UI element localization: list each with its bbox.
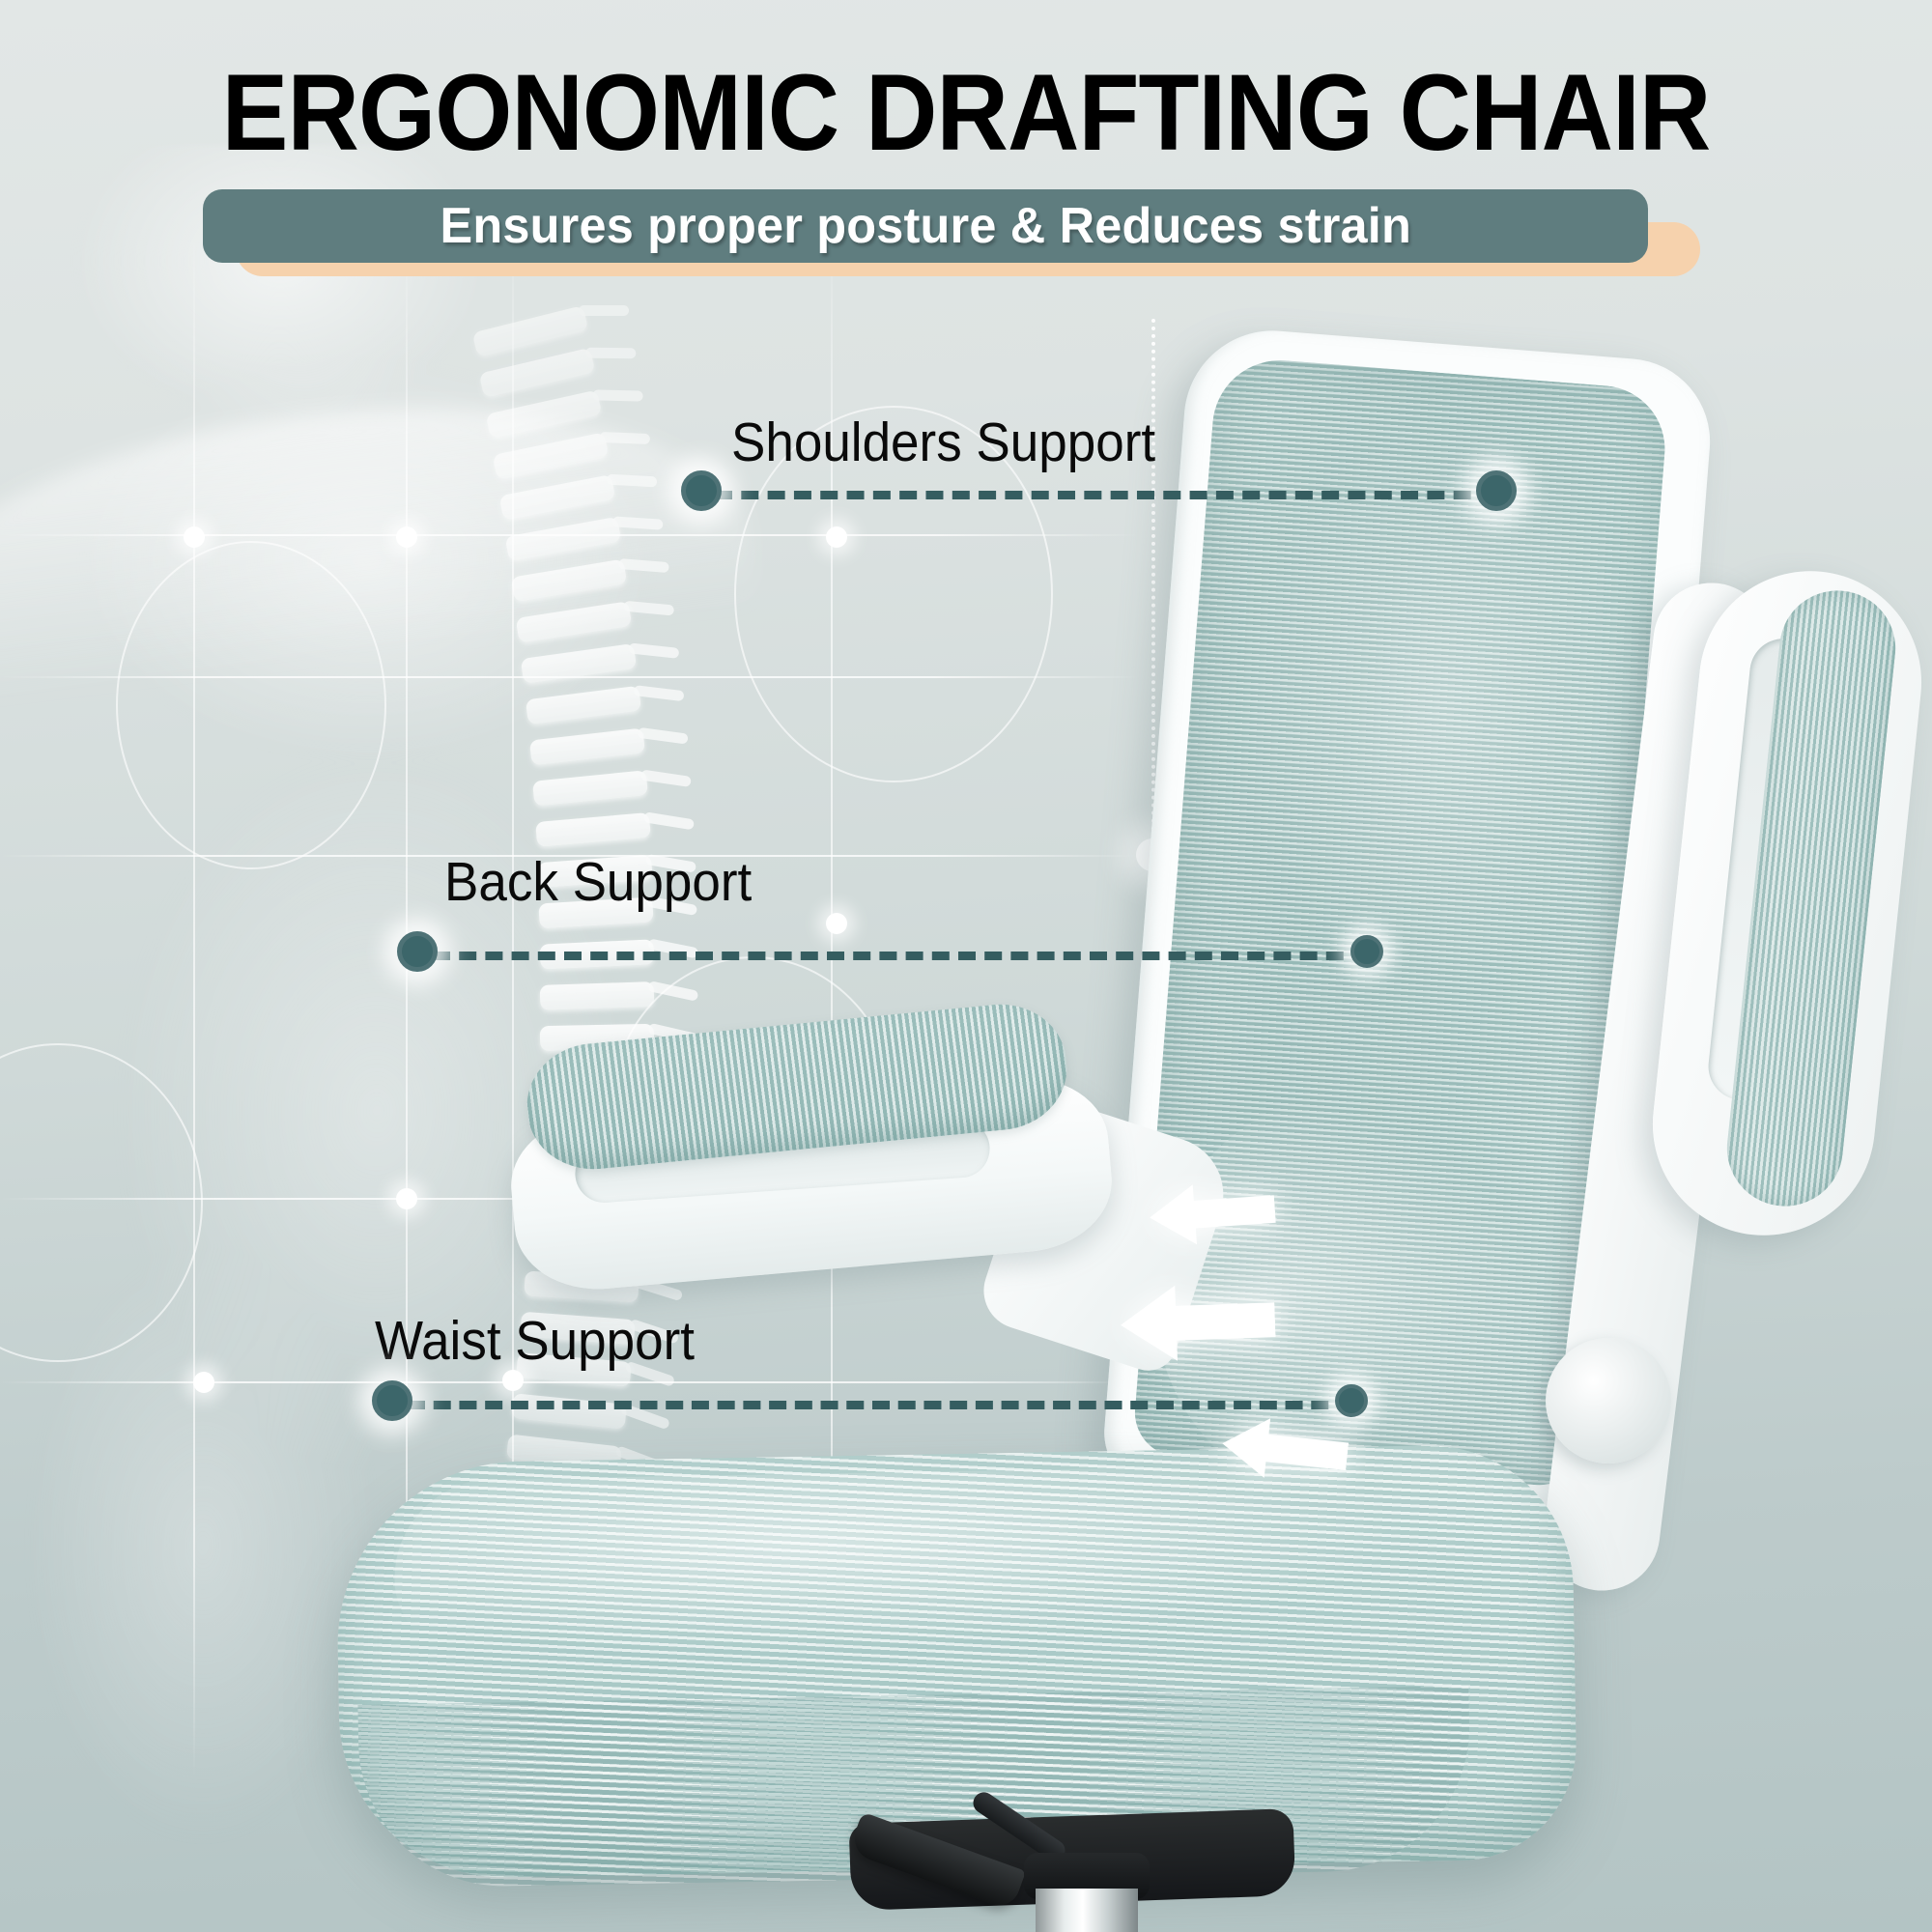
callout-dot-marker-left — [397, 931, 438, 972]
product-infographic: ERGONOMIC DRAFTING CHAIR Ensures proper … — [0, 0, 1932, 1932]
callout-dot-marker-right — [1476, 470, 1517, 511]
page-title: ERGONOMIC DRAFTING CHAIR — [77, 50, 1855, 175]
callout-label: Shoulders Support — [731, 411, 1155, 474]
armrest-pivot-knob — [1546, 1338, 1671, 1463]
callout-dash-line — [408, 1401, 1354, 1409]
callout-label: Back Support — [444, 850, 752, 914]
callout-dot-marker-left — [372, 1380, 412, 1421]
office-chair-product — [0, 0, 1932, 1932]
subtitle-text: Ensures proper posture & Reduces strain — [440, 197, 1410, 255]
callout-dot-marker-right — [1350, 935, 1383, 968]
callout-dot-marker-right — [1335, 1384, 1368, 1417]
callout-dot-marker-left — [681, 470, 722, 511]
gas-cylinder — [1036, 1889, 1138, 1932]
subtitle-banner: Ensures proper posture & Reduces strain — [203, 189, 1648, 263]
callout-dash-line — [433, 952, 1370, 960]
callout-dash-line — [715, 491, 1497, 499]
callout-label: Waist Support — [375, 1309, 695, 1373]
subtitle-banner-wrap: Ensures proper posture & Reduces strain — [203, 189, 1700, 278]
